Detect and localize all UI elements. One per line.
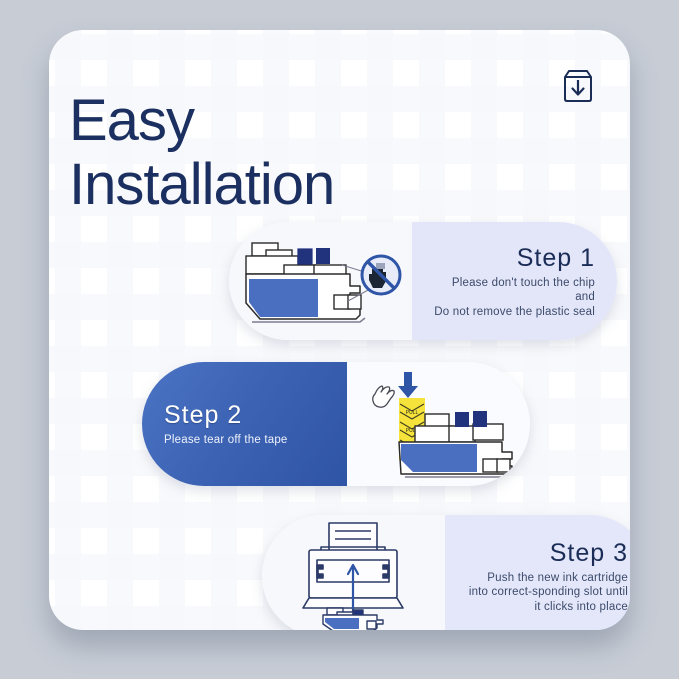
poster-card: Easy Installation: [49, 30, 630, 630]
step-2-text: Step 2 Please tear off the tape: [142, 362, 347, 486]
ink-cartridge-pull-yellow-tape-illustration: PULL PULL PULL: [347, 362, 530, 486]
step-1-description: Please don't touch the chip and Do not r…: [430, 276, 595, 320]
step-card-1[interactable]: Step 1 Please don't touch the chip and D…: [229, 222, 617, 340]
step-3-text: Step 3 Push the new ink cartridge into c…: [445, 515, 630, 630]
step-1-text: Step 1 Please don't touch the chip and D…: [412, 222, 617, 340]
poster-page: Easy Installation: [0, 0, 679, 679]
step-card-3[interactable]: Step 3 Push the new ink cartridge into c…: [262, 515, 630, 630]
step-2-description: Please tear off the tape: [164, 433, 288, 448]
download-box-icon[interactable]: [557, 65, 599, 107]
printer-insert-cartridge-illustration: [262, 515, 445, 630]
step-3-title: Step 3: [550, 538, 628, 568]
step-2-title: Step 2: [164, 400, 242, 430]
step-1-title: Step 1: [517, 243, 595, 273]
ink-cartridge-no-touch-chip-illustration: [229, 222, 412, 340]
step-card-2[interactable]: Step 2 Please tear off the tape: [142, 362, 530, 486]
page-title: Easy Installation: [69, 89, 334, 217]
svg-text:PULL: PULL: [405, 410, 418, 416]
step-3-description: Push the new ink cartridge into correct-…: [469, 571, 628, 615]
